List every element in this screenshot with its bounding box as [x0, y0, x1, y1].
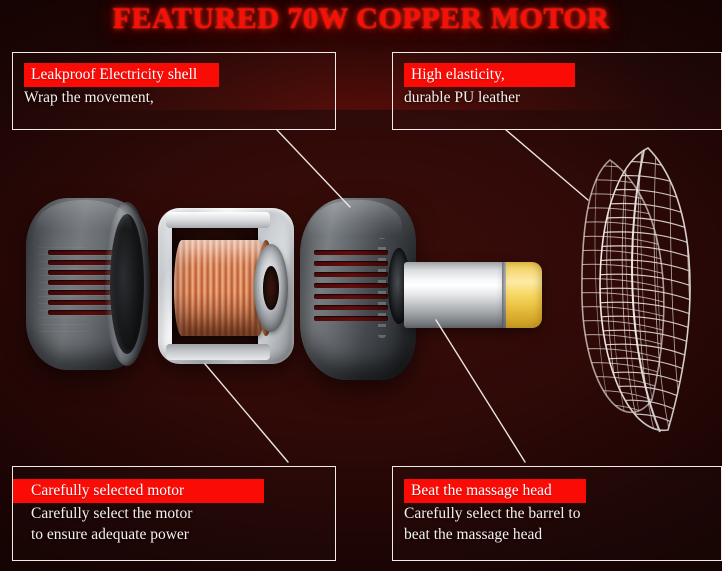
motor-bracket-bottom: [166, 344, 270, 360]
part-copper-motor: [158, 208, 294, 364]
barrel-yellow-cap: [506, 262, 542, 328]
callout-body-line: Carefully select the barrel to: [393, 503, 721, 524]
shell-ridge-detail: [378, 238, 386, 338]
shell-vent-slots: [314, 250, 388, 328]
callout-body-line: Carefully select the motor: [13, 503, 335, 524]
shell-inner-cavity: [110, 214, 144, 354]
motor-bracket-top: [166, 212, 270, 228]
callout-high-elasticity[interactable]: High elasticity, durable PU leather: [392, 52, 722, 130]
callout-heading: High elasticity,: [404, 63, 575, 87]
barrel-chrome-tube: [404, 262, 508, 328]
callout-carefully-selected-motor[interactable]: Carefully selected motor Carefully selec…: [12, 466, 336, 561]
callout-leakproof-electricity-shell[interactable]: Leakproof Electricity shell Wrap the mov…: [12, 52, 336, 130]
callout-beat-the-massage-head[interactable]: Beat the massage head Carefully select t…: [392, 466, 722, 561]
poster-title: FEATURED 70W COPPER MOTOR: [0, 2, 722, 36]
part-left-electricity-shell: [26, 198, 148, 370]
part-massage-head: [556, 138, 718, 440]
callout-heading: Carefully selected motor: [13, 479, 264, 503]
callout-heading: Beat the massage head: [404, 479, 586, 503]
massage-head-wireframe: [556, 138, 718, 440]
product-infographic-poster: FEATURED 70W COPPER MOTOR Leakproof Elec…: [0, 0, 722, 571]
callout-body-line: durable PU leather: [393, 87, 721, 108]
part-right-electricity-shell: [300, 198, 416, 380]
motor-side-hub: [254, 244, 288, 332]
callout-body-line: beat the massage head: [393, 524, 721, 545]
copper-coil-shading: [174, 240, 266, 336]
part-chrome-barrel: [404, 262, 540, 328]
callout-heading: Leakproof Electricity shell: [24, 63, 219, 87]
callout-body-line: Wrap the movement,: [13, 87, 335, 108]
callout-body-line: to ensure adequate power: [13, 524, 335, 545]
